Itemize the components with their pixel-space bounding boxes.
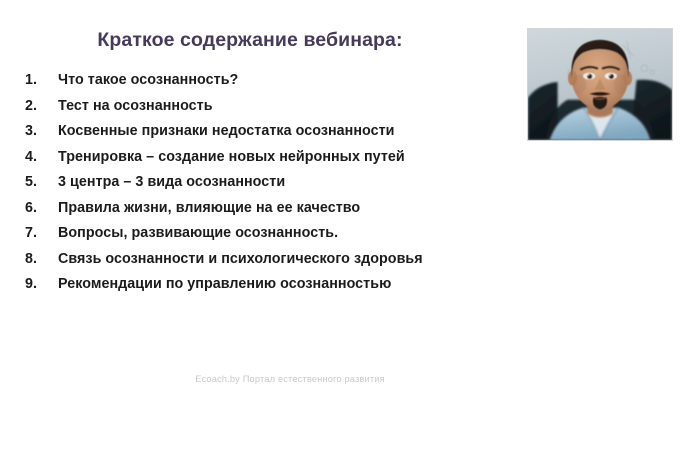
list-item: 1. Что такое осознанность? bbox=[25, 72, 495, 98]
webcam-image bbox=[528, 29, 672, 140]
list-item-label: Рекомендации по управлению осознанностью bbox=[58, 276, 495, 292]
list-item-label: Связь осознанности и психологического зд… bbox=[58, 251, 495, 267]
list-item-label: 3 центра – 3 вида осознанности bbox=[58, 174, 495, 190]
list-item-label: Правила жизни, влияющие на ее качество bbox=[58, 200, 495, 216]
list-item-number: 7. bbox=[25, 225, 58, 241]
presenter-webcam-feed[interactable] bbox=[527, 28, 673, 141]
webcam-portrait-illustration bbox=[528, 29, 672, 140]
list-item-number: 9. bbox=[25, 276, 58, 292]
list-item: 7. Вопросы, развивающие осознанность. bbox=[25, 225, 495, 251]
list-item: 8. Связь осознанности и психологического… bbox=[25, 251, 495, 277]
list-item: 4. Тренировка – создание новых нейронных… bbox=[25, 149, 495, 175]
list-item-label: Тренировка – создание новых нейронных пу… bbox=[58, 149, 495, 165]
list-item: 2. Тест на осознанность bbox=[25, 98, 495, 124]
list-item-number: 2. bbox=[25, 98, 58, 114]
presentation-slide: Краткое содержание вебинара: 1. Что тако… bbox=[0, 0, 700, 449]
agenda-list: 1. Что такое осознанность? 2. Тест на ос… bbox=[25, 72, 495, 302]
list-item-label: Вопросы, развивающие осознанность. bbox=[58, 225, 495, 241]
list-item: 6. Правила жизни, влияющие на ее качеств… bbox=[25, 200, 495, 226]
list-item-number: 1. bbox=[25, 72, 58, 88]
footer-watermark: Ecoach.by Портал естественного развития bbox=[0, 374, 580, 384]
list-item-label: Косвенные признаки недостатка осознаннос… bbox=[58, 123, 495, 139]
list-item-number: 4. bbox=[25, 149, 58, 165]
page-title: Краткое содержание вебинара: bbox=[0, 29, 500, 52]
list-item: 5. 3 центра – 3 вида осознанности bbox=[25, 174, 495, 200]
list-item-number: 8. bbox=[25, 251, 58, 267]
list-item: 3. Косвенные признаки недостатка осознан… bbox=[25, 123, 495, 149]
list-item: 9. Рекомендации по управлению осознаннос… bbox=[25, 276, 495, 302]
list-item-number: 6. bbox=[25, 200, 58, 216]
list-item-number: 5. bbox=[25, 174, 58, 190]
list-item-label: Что такое осознанность? bbox=[58, 72, 495, 88]
list-item-label: Тест на осознанность bbox=[58, 98, 495, 114]
list-item-number: 3. bbox=[25, 123, 58, 139]
